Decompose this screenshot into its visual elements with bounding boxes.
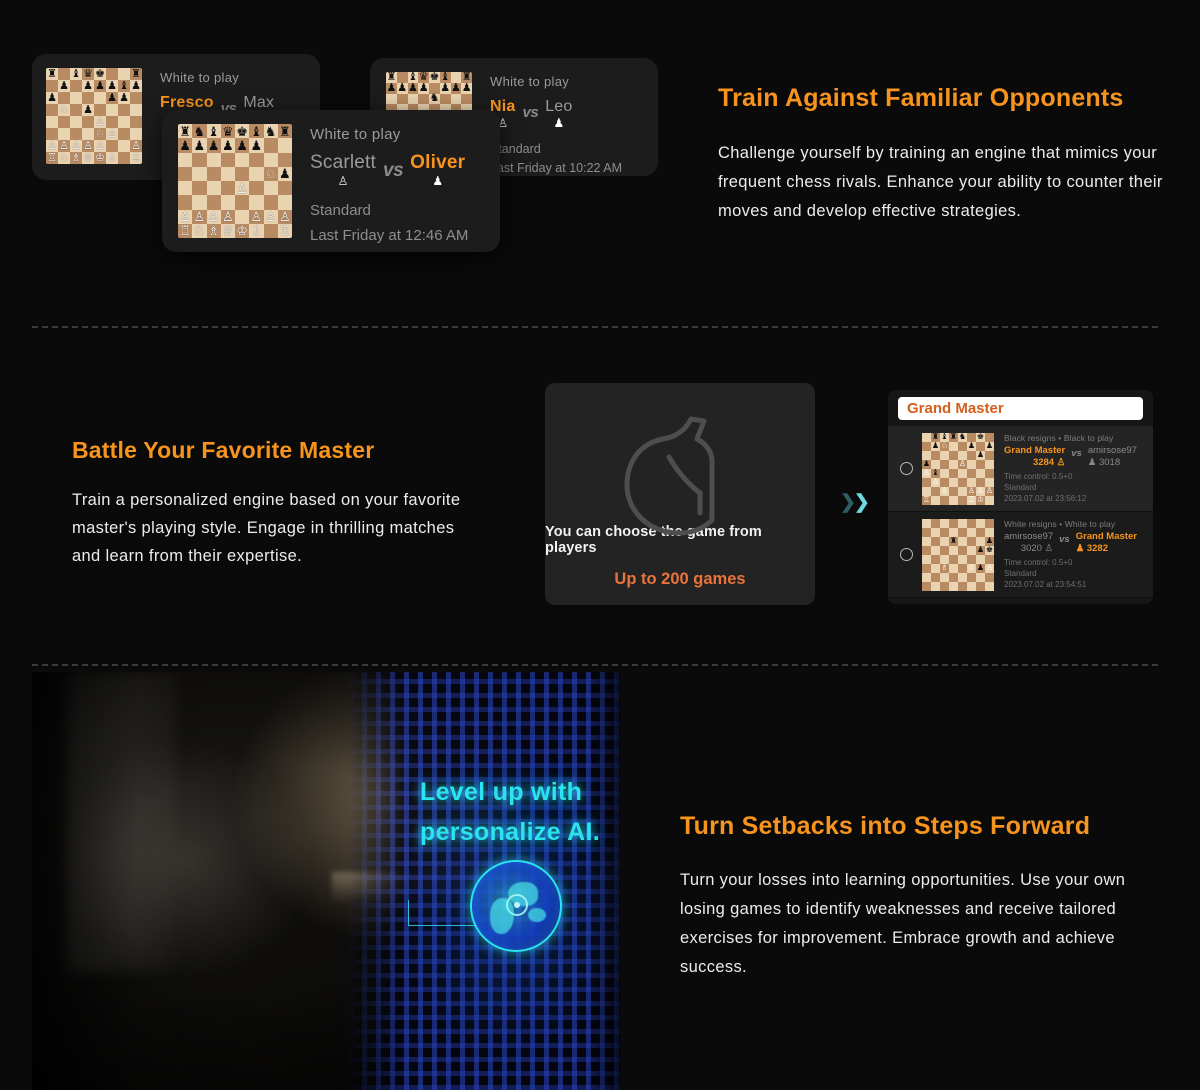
board-square: ♟ bbox=[440, 83, 451, 94]
board-square bbox=[70, 92, 82, 104]
board-square bbox=[397, 94, 408, 105]
board-square bbox=[958, 528, 967, 537]
board-square bbox=[82, 116, 94, 128]
board-square bbox=[70, 80, 82, 92]
board-square: ♙ bbox=[922, 469, 931, 478]
board-square bbox=[985, 496, 994, 505]
timestamp-label: Last Friday at 12:46 AM bbox=[310, 223, 468, 248]
row-timestamp: 2023.07.02 at 23:56:12 bbox=[1004, 493, 1147, 504]
board-square bbox=[118, 140, 130, 152]
board-square bbox=[249, 167, 263, 181]
row-variant: Standard bbox=[1004, 482, 1147, 493]
chess-piece: ♟ bbox=[221, 138, 235, 152]
row-players: Grand Master 3284 ♙ vs amirsose97 ♟ 3018 bbox=[1004, 445, 1147, 468]
board-square: ♙ bbox=[958, 460, 967, 469]
board-square bbox=[967, 546, 976, 555]
knight-outline-icon bbox=[605, 409, 755, 549]
board-square bbox=[249, 181, 263, 195]
board-square bbox=[931, 555, 940, 564]
board-square: ♟ bbox=[408, 83, 419, 94]
chess-piece: ♖ bbox=[278, 224, 292, 238]
chess-piece: ♟ bbox=[418, 83, 429, 94]
board-square bbox=[192, 167, 206, 181]
knight-icon-wrap bbox=[545, 409, 815, 549]
board-square bbox=[249, 153, 263, 167]
ai-slogan: Level up with personalize AI. bbox=[420, 772, 720, 852]
board-square bbox=[235, 153, 249, 167]
board-square bbox=[118, 116, 130, 128]
board-square bbox=[949, 460, 958, 469]
board-square: ♟ bbox=[207, 138, 221, 152]
chess-piece: ♝ bbox=[70, 68, 82, 80]
chess-piece: ♟ bbox=[386, 83, 397, 94]
board-square bbox=[264, 181, 278, 195]
chess-piece: ♚ bbox=[235, 124, 249, 138]
board-square bbox=[931, 573, 940, 582]
board-square bbox=[922, 519, 931, 528]
board-square bbox=[264, 195, 278, 209]
board-square bbox=[118, 152, 130, 164]
board-square bbox=[207, 195, 221, 209]
black-pawn-icon: ♟ bbox=[553, 117, 564, 129]
board-square bbox=[46, 116, 58, 128]
game-card-scarlett[interactable]: ♜♞♝♛♚♝♞♜♟♟♟♟♟♟♘♟♙♙♙♙♙♙♙♙♖♘♗♕♔♗♖ White to… bbox=[162, 110, 500, 252]
board-square: ♕ bbox=[221, 224, 235, 238]
chess-piece: ♟ bbox=[118, 92, 130, 104]
board-square bbox=[221, 153, 235, 167]
board-square bbox=[221, 181, 235, 195]
board-square: ♟ bbox=[418, 83, 429, 94]
board-square bbox=[958, 555, 967, 564]
board-square: ♙ bbox=[235, 181, 249, 195]
board-square bbox=[192, 195, 206, 209]
chess-piece: ♟ bbox=[451, 83, 462, 94]
chess-piece: ♗ bbox=[249, 224, 263, 238]
chess-piece: ♗ bbox=[70, 152, 82, 164]
chess-piece: ♔ bbox=[235, 224, 249, 238]
board-square bbox=[192, 181, 206, 195]
board-square: ♞ bbox=[958, 433, 967, 442]
board-square: ♗ bbox=[940, 564, 949, 573]
timestamp-label: Last Friday at 10:22 AM bbox=[490, 159, 622, 176]
board-square: ♞ bbox=[429, 94, 440, 105]
board-square: ♝ bbox=[249, 124, 263, 138]
section-2-text: Battle Your Favorite Master Train a pers… bbox=[72, 437, 472, 570]
board-square: ♞ bbox=[192, 124, 206, 138]
board-square bbox=[967, 528, 976, 537]
board-square bbox=[931, 519, 940, 528]
board-square: ♙ bbox=[58, 140, 70, 152]
board-square bbox=[106, 116, 118, 128]
chess-piece: ♙ bbox=[94, 116, 106, 128]
board-square bbox=[264, 138, 278, 152]
board-square: ♟ bbox=[118, 92, 130, 104]
board-square: ♟ bbox=[278, 167, 292, 181]
board-square bbox=[985, 573, 994, 582]
chess-piece: ♙ bbox=[922, 469, 931, 478]
board-square bbox=[922, 528, 931, 537]
chess-piece: ♙ bbox=[192, 210, 206, 224]
board-square: ♖ bbox=[278, 224, 292, 238]
board-square bbox=[985, 582, 994, 591]
chess-piece: ♙ bbox=[249, 210, 263, 224]
board-square bbox=[58, 128, 70, 140]
radio-button[interactable] bbox=[900, 462, 913, 475]
chess-piece: ♖ bbox=[46, 152, 58, 164]
photo-curtain bbox=[66, 672, 176, 972]
chess-piece: ♙ bbox=[264, 210, 278, 224]
row-result: White resigns • White to play bbox=[1004, 519, 1147, 529]
board-square bbox=[949, 487, 958, 496]
board-square bbox=[949, 478, 958, 487]
choose-game-card[interactable]: You can choose the game from players Up … bbox=[545, 383, 815, 605]
board-square: ♔ bbox=[235, 224, 249, 238]
board-square bbox=[967, 460, 976, 469]
board-square bbox=[118, 68, 130, 80]
board-square bbox=[264, 153, 278, 167]
board-square: ♘ bbox=[58, 104, 70, 116]
search-wrap bbox=[888, 390, 1153, 426]
board-square bbox=[922, 546, 931, 555]
chess-piece: ♚ bbox=[94, 68, 106, 80]
board-square: ♙ bbox=[207, 210, 221, 224]
board-square bbox=[386, 94, 397, 105]
board-square: ♙ bbox=[931, 478, 940, 487]
chess-piece: ♙ bbox=[58, 140, 70, 152]
board-square bbox=[221, 167, 235, 181]
board-square bbox=[221, 195, 235, 209]
chess-piece: ♚ bbox=[429, 72, 440, 83]
chess-piece: ♙ bbox=[82, 140, 94, 152]
chess-piece: ♙ bbox=[70, 140, 82, 152]
player-right-name: Leo bbox=[545, 98, 572, 116]
board-square bbox=[82, 128, 94, 140]
board-square bbox=[106, 68, 118, 80]
ai-slogan-line-1: Level up with bbox=[420, 772, 720, 812]
board-square: ♛ bbox=[221, 124, 235, 138]
board-square bbox=[949, 564, 958, 573]
section-3-text: Turn Setbacks into Steps Forward Turn yo… bbox=[680, 812, 1158, 982]
chess-piece: ♙ bbox=[221, 210, 235, 224]
chess-piece: ♙ bbox=[94, 140, 106, 152]
mini-chessboard-row-2: ♜♟♟♚♗♔♟♙ bbox=[922, 519, 994, 591]
board-square bbox=[958, 469, 967, 478]
board-square: ♗ bbox=[70, 152, 82, 164]
board-square: ♟ bbox=[106, 92, 118, 104]
vs-label: vs bbox=[523, 104, 539, 121]
board-square bbox=[949, 582, 958, 591]
board-square: ♚ bbox=[94, 68, 106, 80]
board-square bbox=[70, 128, 82, 140]
row-meta: Black resigns • Black to play Grand Mast… bbox=[1004, 433, 1147, 504]
board-square bbox=[940, 546, 949, 555]
board-square bbox=[976, 582, 985, 591]
board-square bbox=[922, 478, 931, 487]
board-square bbox=[958, 582, 967, 591]
chess-piece: ♙ bbox=[985, 487, 994, 496]
board-square bbox=[958, 478, 967, 487]
board-square bbox=[922, 537, 931, 546]
board-square bbox=[278, 153, 292, 167]
mini-chessboard-fresco: ♜♝♛♚♜♟♟♟♟♝♟♟♟♟♘♟♙♘♙♙♙♙♙♙♙♖♘♗♕♔♗♖ bbox=[46, 68, 142, 164]
board-square: ♟ bbox=[130, 80, 142, 92]
mini-chessboard-scarlett: ♜♞♝♛♚♝♞♜♟♟♟♟♟♟♘♟♙♙♙♙♙♙♙♙♖♘♗♕♔♗♖ bbox=[178, 124, 292, 238]
board-square: ♙ bbox=[985, 564, 994, 573]
chess-piece: ♛ bbox=[221, 124, 235, 138]
board-square bbox=[130, 116, 142, 128]
board-square bbox=[58, 116, 70, 128]
game-card-meta: Standard Last Friday at 10:22 AM bbox=[490, 140, 622, 176]
chess-piece: ♚ bbox=[985, 546, 994, 555]
chess-piece: ♟ bbox=[976, 564, 985, 573]
board-square: ♙ bbox=[192, 210, 206, 224]
board-square: ♘ bbox=[94, 128, 106, 140]
chess-piece: ♟ bbox=[397, 83, 408, 94]
board-square bbox=[118, 104, 130, 116]
chess-piece: ♘ bbox=[264, 167, 278, 181]
chess-piece: ♟ bbox=[106, 92, 118, 104]
board-square bbox=[418, 94, 429, 105]
row-left-name: amirsose97 bbox=[1004, 531, 1053, 542]
board-square: ♚ bbox=[976, 433, 985, 442]
row-player-left: amirsose97 3020 ♙ bbox=[1004, 531, 1053, 554]
chess-piece: ♟ bbox=[440, 83, 451, 94]
chess-piece: ♜ bbox=[178, 124, 192, 138]
choose-game-line-2: Up to 200 games bbox=[614, 570, 745, 589]
chess-piece: ♟ bbox=[58, 80, 70, 92]
section-1-text: Train Against Familiar Opponents Challen… bbox=[718, 84, 1170, 226]
board-square: ♘ bbox=[58, 152, 70, 164]
board-square: ♟ bbox=[461, 83, 472, 94]
board-square: ♞ bbox=[264, 124, 278, 138]
globe-leader-line bbox=[408, 900, 478, 926]
row-result: Black resigns • Black to play bbox=[1004, 433, 1147, 443]
board-square bbox=[949, 555, 958, 564]
chess-piece: ♙ bbox=[178, 210, 192, 224]
mini-chessboard-row-1: ♜♝♜♞♚♟♘♟♟♟♟♙♙♝♙♙♙♙♙♖♖♔ bbox=[922, 433, 994, 505]
board-square bbox=[931, 496, 940, 505]
board-square bbox=[931, 528, 940, 537]
player-right: Leo ♟ bbox=[545, 98, 572, 129]
chess-piece: ♝ bbox=[249, 124, 263, 138]
board-square bbox=[940, 460, 949, 469]
chess-piece: ♟ bbox=[82, 104, 94, 116]
players-row: Nia ♙ vs Leo ♟ bbox=[490, 98, 622, 129]
board-square bbox=[949, 469, 958, 478]
board-square: ♙ bbox=[94, 140, 106, 152]
board-square: ♘ bbox=[264, 167, 278, 181]
board-square bbox=[249, 195, 263, 209]
board-square: ♜ bbox=[178, 124, 192, 138]
board-square bbox=[949, 546, 958, 555]
section-divider-2 bbox=[32, 664, 1158, 666]
board-square: ♔ bbox=[967, 564, 976, 573]
globe-reticle-icon bbox=[506, 894, 528, 916]
board-square bbox=[958, 519, 967, 528]
section-3-body: Turn your losses into learning opportuni… bbox=[680, 866, 1158, 982]
board-square bbox=[207, 167, 221, 181]
chess-piece: ♕ bbox=[221, 224, 235, 238]
board-square: ♗ bbox=[106, 152, 118, 164]
board-square: ♟ bbox=[82, 80, 94, 92]
player-left-name: Scarlett bbox=[310, 152, 376, 174]
chess-piece: ♘ bbox=[58, 104, 70, 116]
white-pawn-icon: ♙ bbox=[338, 175, 349, 187]
section-3-headline: Turn Setbacks into Steps Forward bbox=[680, 812, 1158, 841]
row-variant: Standard bbox=[1004, 568, 1147, 579]
board-square: ♟ bbox=[46, 92, 58, 104]
chess-piece: ♘ bbox=[192, 224, 206, 238]
board-square bbox=[967, 537, 976, 546]
board-square: ♟ bbox=[192, 138, 206, 152]
chess-piece: ♙ bbox=[106, 128, 118, 140]
board-square bbox=[207, 181, 221, 195]
board-square bbox=[940, 537, 949, 546]
board-square: ♙ bbox=[985, 487, 994, 496]
board-square bbox=[461, 94, 472, 105]
board-square bbox=[178, 167, 192, 181]
board-square: ♖ bbox=[178, 224, 192, 238]
chess-piece: ♟ bbox=[976, 546, 985, 555]
board-square bbox=[94, 104, 106, 116]
radio-button[interactable] bbox=[900, 548, 913, 561]
game-list-row[interactable]: ♜♝♜♞♚♟♘♟♟♟♟♙♙♝♙♙♙♙♙♖♖♔ Black resigns • B… bbox=[888, 426, 1153, 512]
board-square: ♟ bbox=[235, 138, 249, 152]
board-square: ♜ bbox=[949, 537, 958, 546]
board-square: ♙ bbox=[221, 210, 235, 224]
board-square: ♙ bbox=[94, 116, 106, 128]
player-left: Scarlett ♙ bbox=[310, 152, 376, 187]
board-square bbox=[949, 573, 958, 582]
globe-continent-asia bbox=[528, 908, 546, 922]
board-square: ♜ bbox=[46, 68, 58, 80]
board-square bbox=[82, 92, 94, 104]
row-timestamp: 2023.07.02 at 23:54:51 bbox=[1004, 579, 1147, 590]
chess-piece: ♛ bbox=[82, 68, 94, 80]
row-right-rating: ♟ 3282 bbox=[1076, 543, 1108, 554]
chess-piece: ♖ bbox=[178, 224, 192, 238]
player-right: Oliver ♟ bbox=[410, 152, 465, 187]
board-square bbox=[949, 519, 958, 528]
chess-piece: ♟ bbox=[278, 167, 292, 181]
board-square: ♙ bbox=[70, 140, 82, 152]
chess-piece: ♜ bbox=[278, 124, 292, 138]
row-extra: Time control: 0.5+0 Standard 2023.07.02 … bbox=[1004, 557, 1147, 590]
board-square bbox=[958, 442, 967, 451]
board-square bbox=[958, 487, 967, 496]
board-square bbox=[451, 94, 462, 105]
board-square bbox=[70, 116, 82, 128]
chess-piece: ♗ bbox=[207, 224, 221, 238]
chess-piece: ♟ bbox=[967, 442, 976, 451]
board-square: ♙ bbox=[249, 210, 263, 224]
chess-piece: ♟ bbox=[207, 138, 221, 152]
board-square bbox=[46, 80, 58, 92]
board-square bbox=[106, 104, 118, 116]
board-square: ♔ bbox=[94, 152, 106, 164]
chess-piece: ♟ bbox=[235, 138, 249, 152]
board-square bbox=[958, 537, 967, 546]
chess-piece: ♟ bbox=[931, 442, 940, 451]
board-square bbox=[922, 582, 931, 591]
chess-piece: ♙ bbox=[46, 140, 58, 152]
board-square: ♚ bbox=[429, 72, 440, 83]
board-square bbox=[130, 104, 142, 116]
section-1-body: Challenge yourself by training an engine… bbox=[718, 139, 1170, 226]
board-square bbox=[235, 167, 249, 181]
chess-piece: ♙ bbox=[130, 140, 142, 152]
board-square bbox=[931, 582, 940, 591]
chess-piece: ♟ bbox=[976, 451, 985, 460]
board-square: ♘ bbox=[940, 442, 949, 451]
section-divider-1 bbox=[32, 326, 1158, 328]
board-square bbox=[985, 519, 994, 528]
row-player-left: Grand Master 3284 ♙ bbox=[1004, 445, 1065, 468]
board-square: ♟ bbox=[985, 442, 994, 451]
game-list-row[interactable]: ♜♟♟♚♗♔♟♙ White resigns • White to play a… bbox=[888, 512, 1153, 598]
board-square bbox=[931, 451, 940, 460]
chess-piece: ♙ bbox=[940, 487, 949, 496]
board-square: ♟ bbox=[58, 80, 70, 92]
chess-piece: ♖ bbox=[922, 496, 931, 505]
chess-piece: ♟ bbox=[408, 83, 419, 94]
search-input[interactable] bbox=[898, 397, 1143, 420]
player-right-name: Oliver bbox=[410, 152, 465, 174]
board-square: ♟ bbox=[82, 104, 94, 116]
row-right-rating: ♟ 3018 bbox=[1088, 457, 1120, 468]
section-2-headline: Battle Your Favorite Master bbox=[72, 437, 472, 464]
board-square bbox=[178, 153, 192, 167]
chess-piece: ♘ bbox=[94, 128, 106, 140]
chess-piece: ♗ bbox=[106, 152, 118, 164]
row-time-control: Time control: 0.5+0 bbox=[1004, 557, 1147, 568]
vs-label: vs bbox=[383, 160, 403, 182]
board-square: ♟ bbox=[976, 564, 985, 573]
chess-piece: ♙ bbox=[931, 478, 940, 487]
board-square: ♟ bbox=[386, 83, 397, 94]
board-square bbox=[940, 451, 949, 460]
chess-piece: ♕ bbox=[82, 152, 94, 164]
chess-piece: ♖ bbox=[130, 152, 142, 164]
board-square: ♖ bbox=[967, 496, 976, 505]
board-square bbox=[207, 153, 221, 167]
board-square: ♛ bbox=[82, 68, 94, 80]
chess-piece: ♔ bbox=[976, 496, 985, 505]
board-square: ♟ bbox=[976, 546, 985, 555]
chess-piece: ♝ bbox=[118, 80, 130, 92]
double-chevron-right-icon: ❯ ❯ bbox=[840, 491, 868, 514]
row-player-right: Grand Master ♟ 3282 bbox=[1076, 531, 1137, 554]
board-square bbox=[958, 564, 967, 573]
board-square: ♟ bbox=[94, 80, 106, 92]
row-right-name: Grand Master bbox=[1076, 531, 1137, 542]
row-player-right: amirsose97 ♟ 3018 bbox=[1088, 445, 1137, 468]
chess-piece: ♜ bbox=[46, 68, 58, 80]
game-card-info: White to play Scarlett ♙ vs Oliver ♟ Sta… bbox=[292, 110, 468, 248]
board-square bbox=[931, 487, 940, 496]
board-square bbox=[130, 128, 142, 140]
board-square: ♗ bbox=[249, 224, 263, 238]
board-square bbox=[985, 460, 994, 469]
chess-piece: ♙ bbox=[985, 564, 994, 573]
chevron-1: ❯ bbox=[840, 491, 854, 514]
chess-piece: ♜ bbox=[130, 68, 142, 80]
chess-piece: ♝ bbox=[207, 124, 221, 138]
board-square bbox=[922, 442, 931, 451]
row-left-rating: 3020 ♙ bbox=[1004, 543, 1053, 554]
chess-piece: ♟ bbox=[130, 80, 142, 92]
board-square: ♟ bbox=[106, 80, 118, 92]
